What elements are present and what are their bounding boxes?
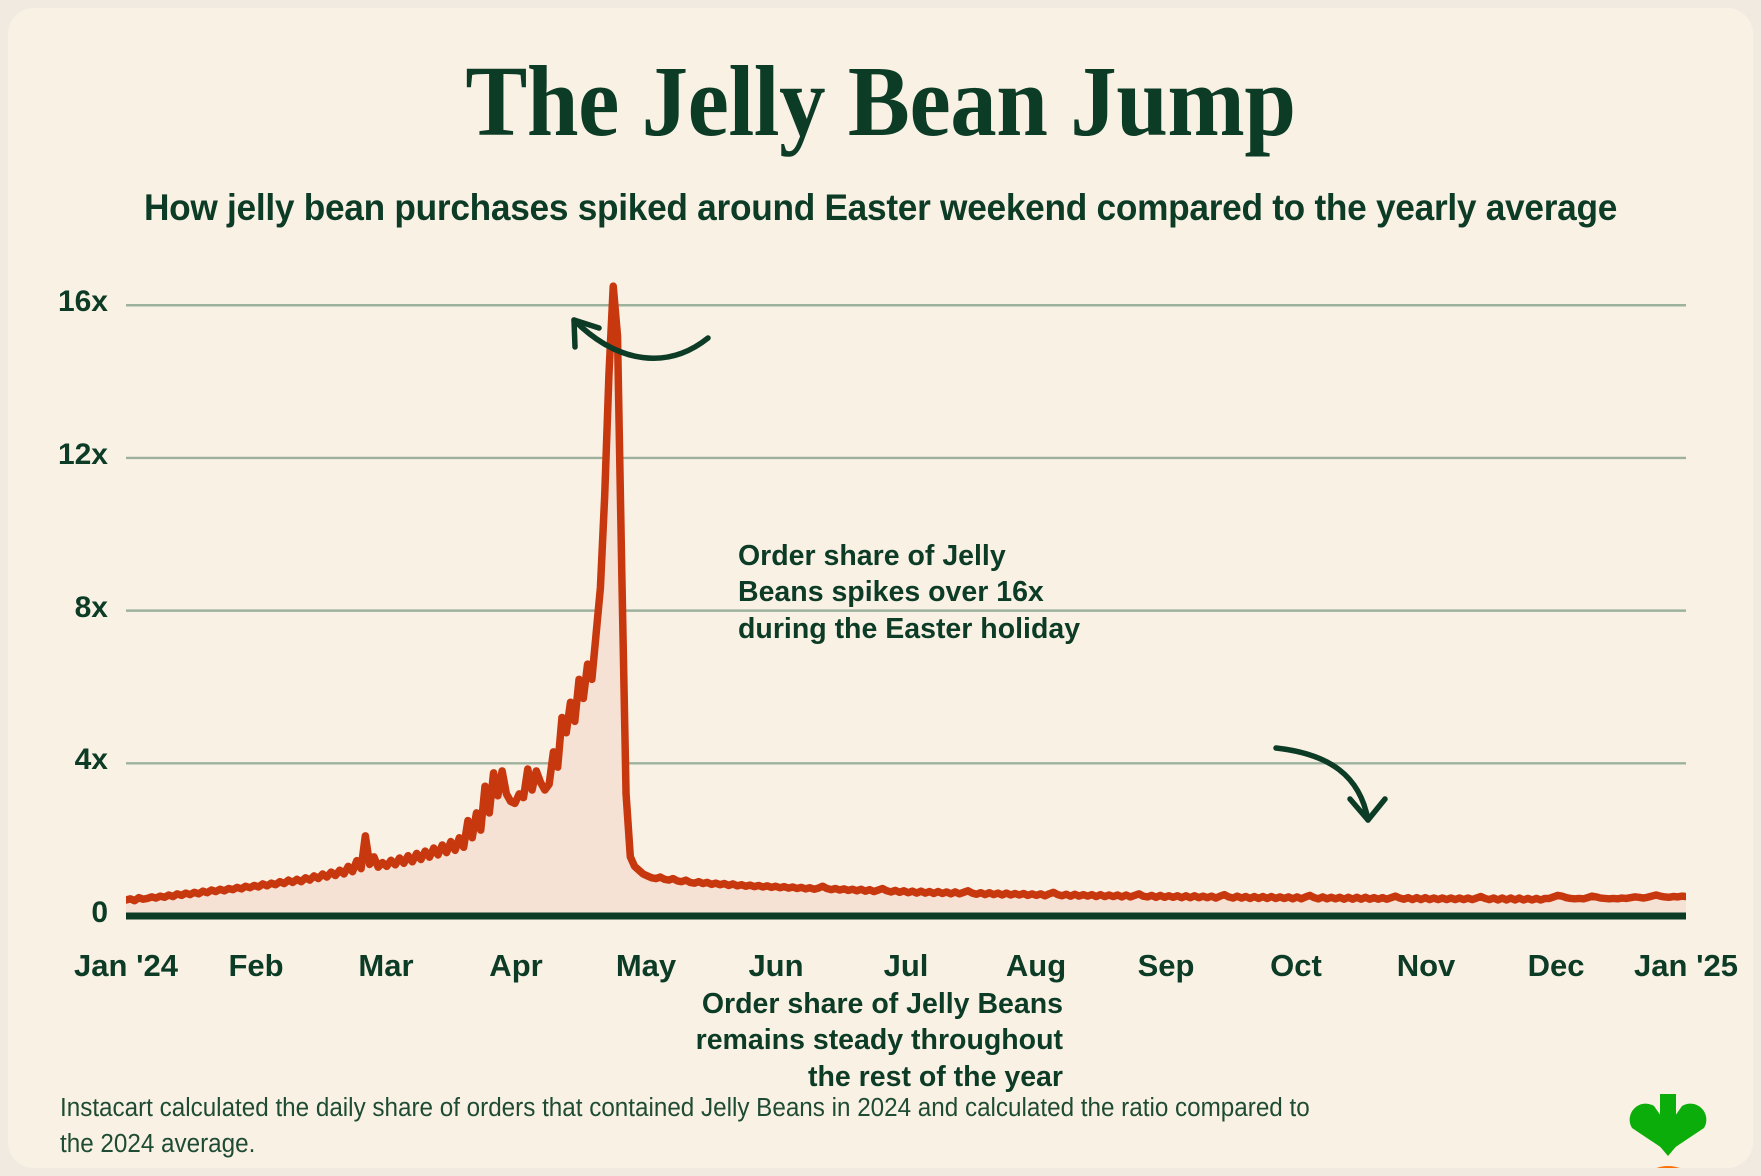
chart-container: 04x8x12x16x Jan '24FebMarAprMayJunJulAug…	[8, 248, 1753, 958]
page-subtitle: How jelly bean purchases spiked around E…	[60, 186, 1700, 229]
infographic-card: The Jelly Bean Jump How jelly bean purch…	[8, 8, 1753, 1168]
carrot-body-icon	[1634, 1166, 1702, 1168]
x-axis-tick-label: Aug	[1006, 948, 1066, 984]
gridlines-group	[126, 305, 1686, 763]
x-axis-tick-label: Feb	[228, 948, 283, 984]
x-axis-tick-label: Jul	[884, 948, 929, 984]
y-axis-tick-label: 16x	[16, 285, 108, 319]
x-axis-tick-label: Jan '25	[1634, 948, 1738, 984]
callout-steady: Order share of Jelly Beans remains stead…	[696, 986, 1063, 1095]
x-axis-tick-label: Sep	[1138, 948, 1195, 984]
x-axis-tick-label: Apr	[489, 948, 542, 984]
y-axis-tick-label: 8x	[16, 591, 108, 625]
instacart-carrot-logo	[1608, 1088, 1728, 1168]
footnote: Instacart calculated the daily share of …	[60, 1090, 1343, 1162]
x-axis-tick-label: Mar	[358, 948, 413, 984]
page-title: The Jelly Bean Jump	[78, 50, 1683, 153]
x-axis-tick-label: May	[616, 948, 676, 984]
carrot-leaf-icon	[1630, 1094, 1707, 1156]
x-axis-tick-label: Jan '24	[74, 948, 178, 984]
x-axis-tick-label: Dec	[1528, 948, 1585, 984]
callout-arrow-steady	[1276, 748, 1385, 820]
callout-arrow-peak	[574, 320, 708, 358]
y-axis-tick-label: 4x	[16, 743, 108, 777]
x-axis-tick-label: Nov	[1397, 948, 1456, 984]
callout-peak: Order share of Jelly Beans spikes over 1…	[738, 538, 1080, 647]
y-axis-tick-label: 12x	[16, 438, 108, 472]
x-axis-tick-label: Oct	[1270, 948, 1322, 984]
y-axis-tick-label: 0	[16, 896, 108, 930]
x-axis-tick-label: Jun	[748, 948, 803, 984]
